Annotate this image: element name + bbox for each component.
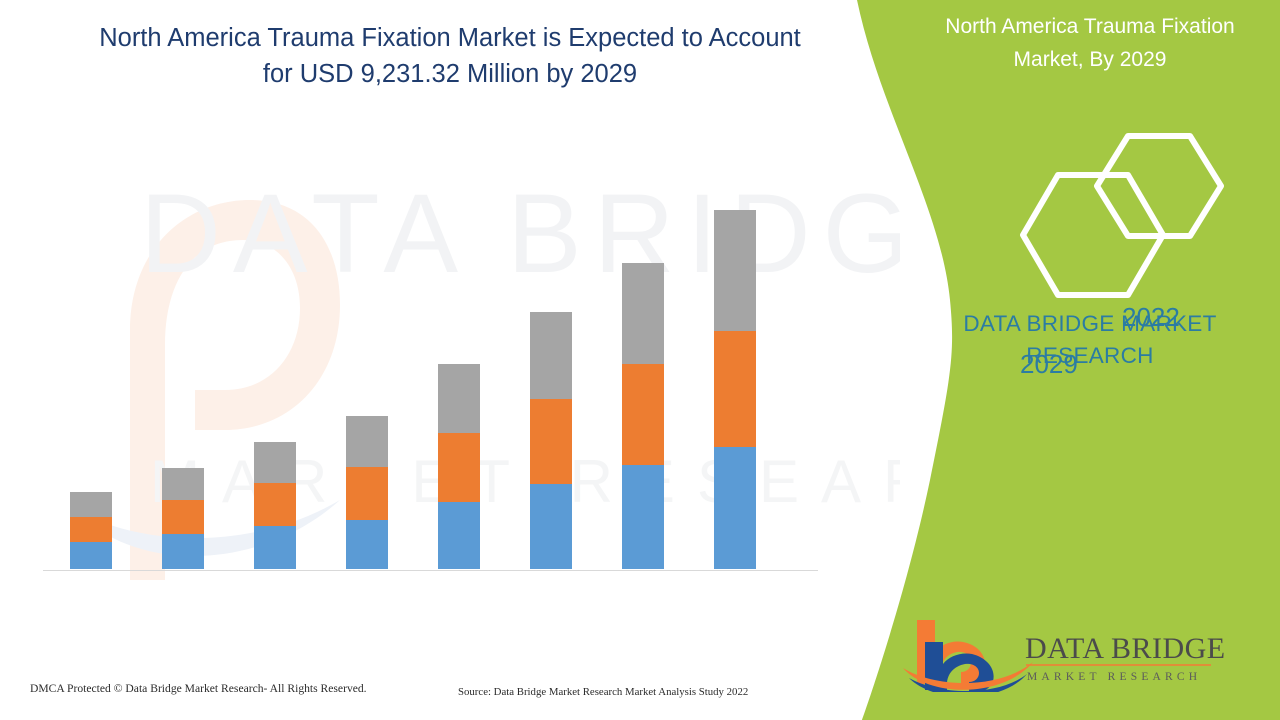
- bar-segment-mexico: [254, 442, 296, 483]
- databridge-logo: DATA BRIDGE MARKET RESEARCH: [895, 612, 1225, 692]
- svg-text:MARKET RESEARCH: MARKET RESEARCH: [1027, 671, 1201, 683]
- footer-source: Source: Data Bridge Market Research Mark…: [458, 686, 748, 698]
- bar-segment-canada: [530, 399, 572, 484]
- bar-group: [70, 492, 112, 569]
- brand-line1: DATA BRIDGE MARKET: [963, 311, 1216, 336]
- bar-group: [346, 416, 388, 569]
- bar-group: [254, 442, 296, 569]
- green-panel-title-line1: North America Trauma Fixation: [945, 15, 1234, 38]
- bar-segment-mexico: [622, 263, 664, 364]
- brand-line2: RESEARCH: [1026, 343, 1153, 368]
- infographic-page: DATA BRIDGE MARKET RESEARCH North Americ…: [0, 0, 1280, 720]
- bar-segment-mexico: [70, 492, 112, 517]
- footer-copyright: DMCA Protected © Data Bridge Market Rese…: [30, 682, 367, 695]
- bar-segment-us: [714, 447, 756, 569]
- page-title: North America Trauma Fixation Market is …: [60, 20, 840, 92]
- bar-segment-us: [530, 484, 572, 569]
- chart-plot-area: [28, 180, 828, 570]
- chart-panel: DATA BRIDGE MARKET RESEARCH North Americ…: [0, 0, 900, 720]
- bar-segment-us: [254, 526, 296, 569]
- bar-segment-canada: [714, 331, 756, 447]
- footer: DMCA Protected © Data Bridge Market Rese…: [0, 682, 860, 712]
- bar-group: [438, 364, 480, 569]
- hexagon-badges: 2022 2029: [900, 130, 1280, 300]
- green-panel-content: North America Trauma Fixation Market, By…: [900, 0, 1280, 720]
- bar-group: [530, 312, 572, 569]
- bar-segment-canada: [162, 500, 204, 534]
- bar-segment-us: [346, 520, 388, 569]
- bar-segment-canada: [254, 483, 296, 526]
- bar-segment-us: [162, 534, 204, 569]
- bar-segment-mexico: [438, 364, 480, 433]
- green-panel-title-line2: Market, By 2029: [1014, 48, 1167, 71]
- page-title-line1: North America Trauma Fixation Market is …: [99, 24, 801, 52]
- bar-segment-mexico: [162, 468, 204, 500]
- bar-segment-mexico: [530, 312, 572, 399]
- brand-name: DATA BRIDGE MARKET RESEARCH: [910, 308, 1270, 372]
- green-panel-title: North America Trauma Fixation Market, By…: [910, 10, 1270, 76]
- bar-segment-us: [70, 542, 112, 569]
- bar-segment-mexico: [714, 210, 756, 331]
- svg-text:DATA BRIDGE: DATA BRIDGE: [1025, 632, 1225, 665]
- bar-group: [622, 263, 664, 569]
- stacked-bar-chart: 20222023202420252026202720282029 U.SCana…: [28, 180, 828, 580]
- bar-segment-canada: [346, 467, 388, 520]
- bar-segment-us: [438, 502, 480, 569]
- bar-segment-us: [622, 465, 664, 569]
- x-axis-line: [43, 570, 818, 571]
- hexagon-2022-shape: [1097, 136, 1221, 236]
- bar-segment-canada: [70, 517, 112, 542]
- bar-group: [162, 468, 204, 569]
- bar-segment-canada: [622, 364, 664, 465]
- bar-segment-mexico: [346, 416, 388, 467]
- bar-group: [714, 210, 756, 569]
- page-title-line2: for USD 9,231.32 Million by 2029: [263, 60, 637, 88]
- bar-segment-canada: [438, 433, 480, 502]
